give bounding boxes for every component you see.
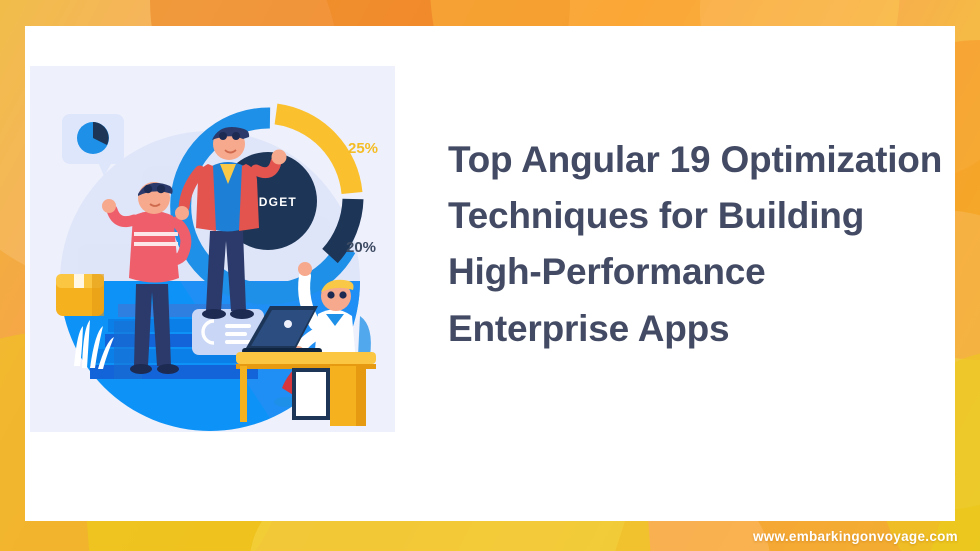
page-title: Top Angular 19 Optimization Techniques f…: [448, 132, 948, 357]
poster-canvas: ✕ BUDGET 25% 20%: [0, 0, 980, 551]
donut-label-25: 25%: [348, 140, 378, 157]
illustration-panel: ✕ BUDGET 25% 20%: [30, 66, 395, 432]
budget-analytics-teamwork-illustration: ✕ BUDGET 25% 20%: [30, 66, 395, 432]
pie-chart-icon: [77, 122, 109, 154]
donut-label-20: 20%: [346, 239, 376, 256]
site-watermark: www.embarkingonvoyage.com: [753, 529, 958, 544]
box-icon: [56, 274, 104, 316]
